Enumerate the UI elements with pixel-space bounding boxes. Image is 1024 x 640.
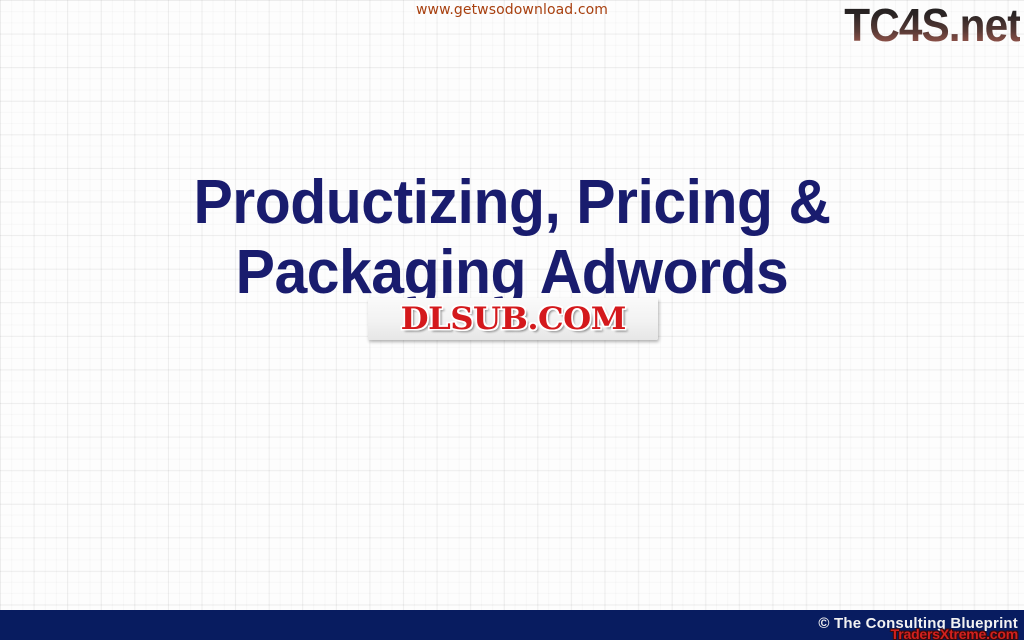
tc4s-brand-logo: TC4S.net	[844, 0, 1020, 52]
slide-title-line-1: Productizing, Pricing &	[26, 168, 999, 238]
dlsub-watermark-label: DLSUB.COM	[400, 301, 625, 337]
slide-footer-bar: © The Consulting Blueprint TradersXtreme…	[0, 610, 1024, 640]
tradersxtreme-watermark: TradersXtreme.com	[891, 626, 1018, 640]
slide-title: Productizing, Pricing & Packaging Adword…	[0, 168, 1024, 308]
dlsub-watermark-badge: DLSUB.COM	[368, 298, 658, 340]
presentation-slide: www.getwsodownload.com TC4S.net Producti…	[0, 0, 1024, 640]
